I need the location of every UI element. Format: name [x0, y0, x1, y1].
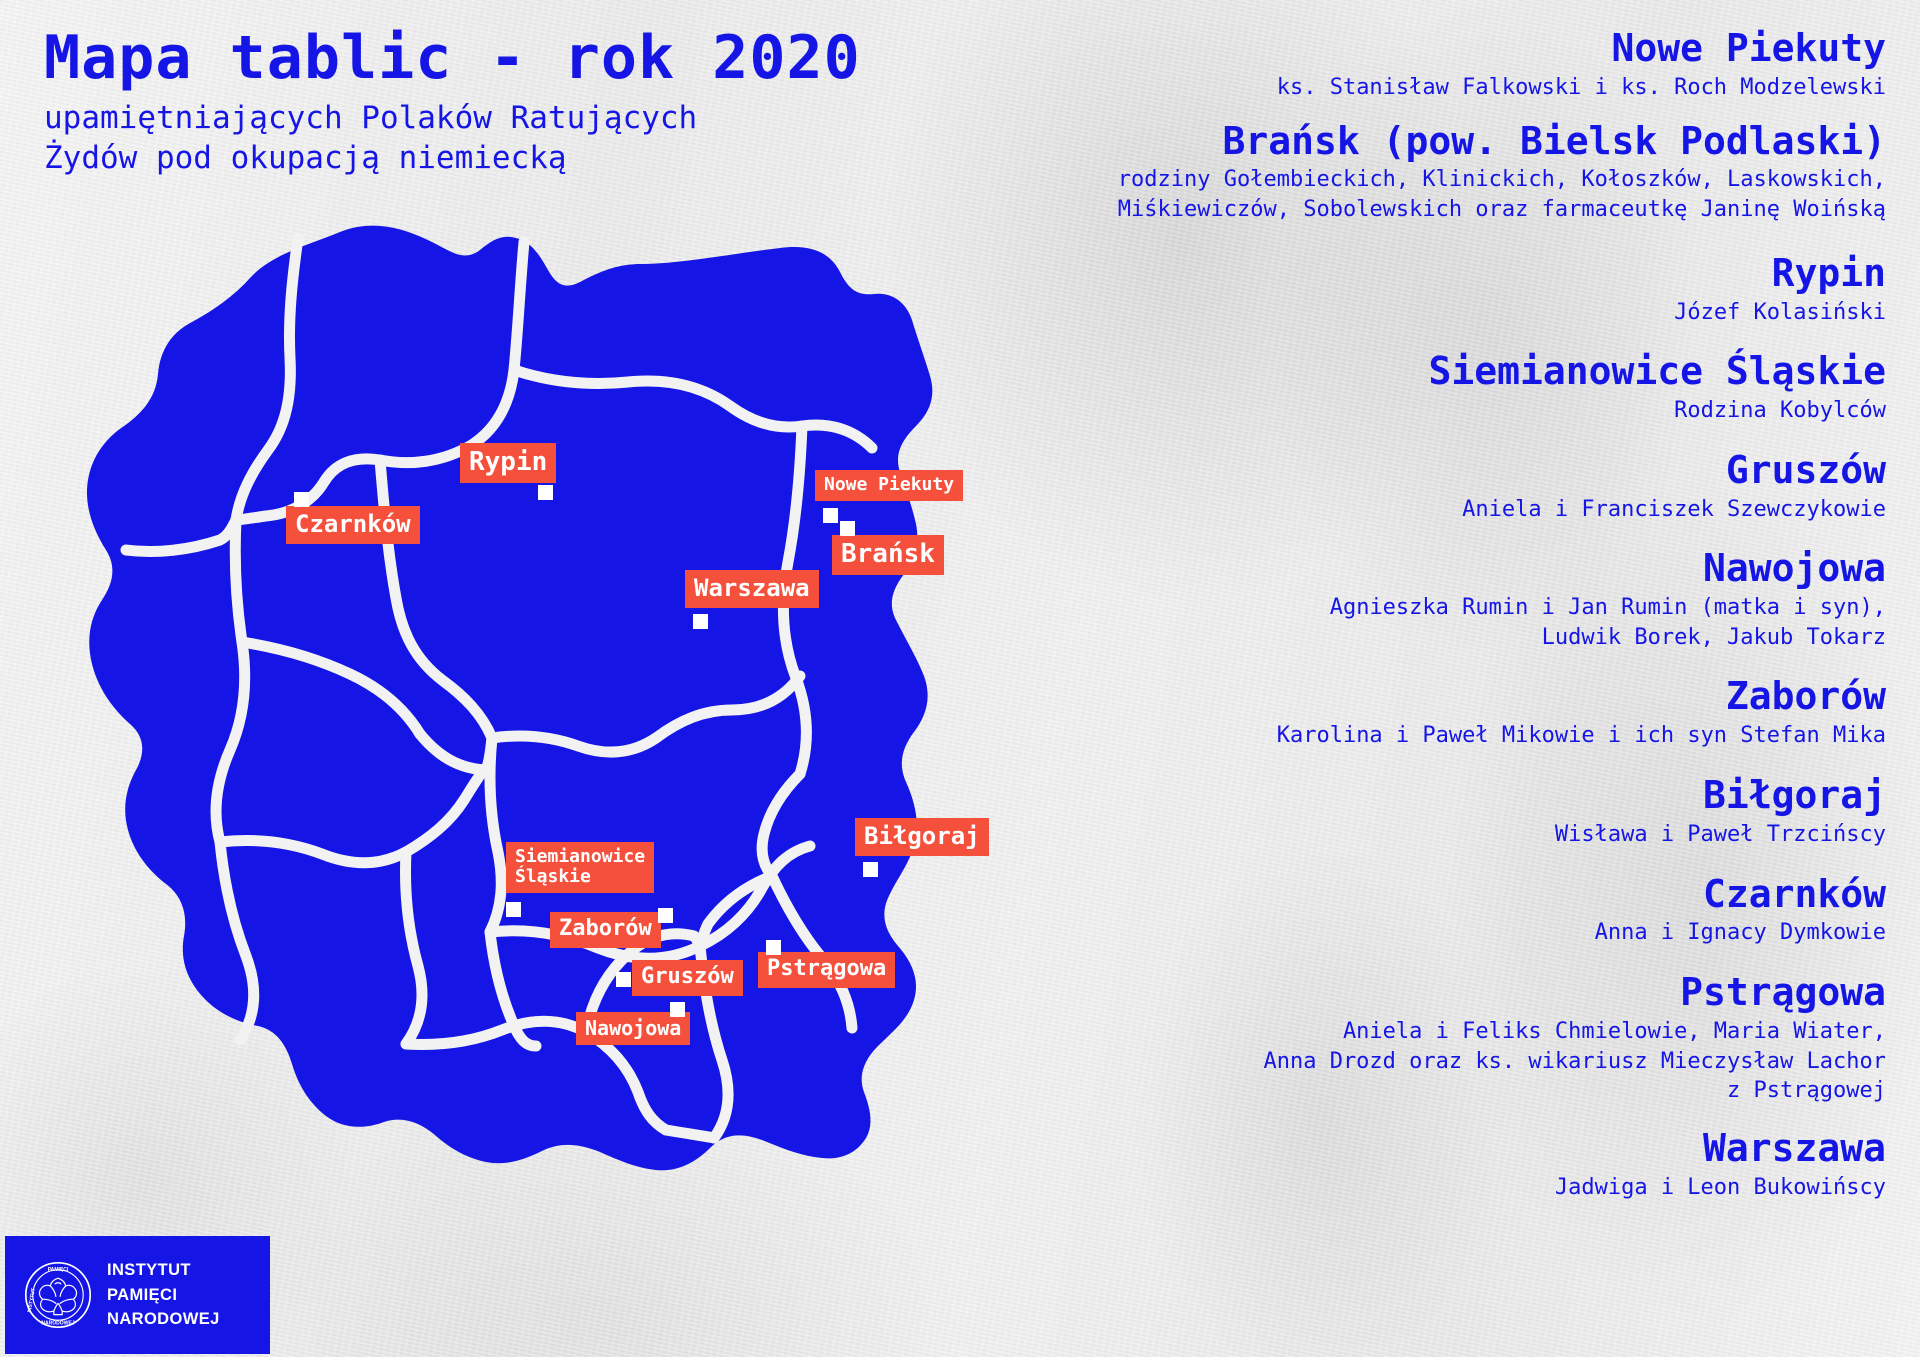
- entry-place: Warszawa: [1006, 1126, 1886, 1171]
- poland-map-svg: [40, 190, 1050, 1270]
- entry-place: Siemianowice Śląskie: [1006, 349, 1886, 394]
- list-item: Pstrągowa Aniela i Feliks Chmielowie, Ma…: [1006, 970, 1886, 1106]
- map-marker-nawojowa: [670, 1002, 685, 1017]
- entry-place: Czarnków: [1006, 872, 1886, 917]
- entry-place: Gruszów: [1006, 448, 1886, 493]
- map-label-czarnkow[interactable]: Czarnków: [286, 506, 420, 544]
- list-item: Biłgoraj Wisława i Paweł Trzcińscy: [1006, 773, 1886, 850]
- map-marker-gruszow: [616, 972, 631, 987]
- map-label-pstragowa[interactable]: Pstrągowa: [758, 952, 895, 988]
- map-label-rypin[interactable]: Rypin: [460, 443, 556, 483]
- map-marker-czarnkow: [294, 492, 309, 507]
- poland-map: Rypin Czarnków Nowe Piekuty Brańsk Warsz…: [40, 190, 1050, 1270]
- entry-place: Nowe Piekuty: [1006, 26, 1886, 71]
- map-label-gruszow[interactable]: Gruszów: [632, 960, 743, 996]
- list-item: Nawojowa Agnieszka Rumin i Jan Rumin (ma…: [1006, 546, 1886, 652]
- map-marker-rypin: [538, 485, 553, 500]
- svg-text:NARODOWEJ: NARODOWEJ: [41, 1320, 74, 1326]
- svg-text:INSTYTUT: INSTYTUT: [27, 1287, 37, 1313]
- map-label-siemianowice-slaskie[interactable]: Siemianowice Śląskie: [506, 842, 654, 893]
- list-item: Czarnków Anna i Ignacy Dymkowie: [1006, 872, 1886, 949]
- ipn-logo-text: INSTYTUT PAMIĘCI NARODOWEJ: [107, 1258, 220, 1332]
- map-marker-warszawa: [693, 614, 708, 629]
- list-item: Nowe Piekuty ks. Stanisław Falkowski i k…: [1006, 26, 1886, 103]
- entry-names: Wisława i Paweł Trzcińscy: [1006, 820, 1886, 850]
- list-item: Rypin Józef Kolasiński: [1006, 251, 1886, 328]
- entry-place: Nawojowa: [1006, 546, 1886, 591]
- entry-names: Jadwiga i Leon Bukowińscy: [1006, 1173, 1886, 1203]
- map-label-zaborow[interactable]: Zaborów: [550, 912, 661, 948]
- list-item: Warszawa Jadwiga i Leon Bukowińscy: [1006, 1126, 1886, 1203]
- entry-place: Pstrągowa: [1006, 970, 1886, 1015]
- list-item: Zaborów Karolina i Paweł Mikowie i ich s…: [1006, 674, 1886, 751]
- entry-names: Karolina i Paweł Mikowie i ich syn Stefa…: [1006, 721, 1886, 751]
- entry-place: Brańsk (pow. Bielsk Podlaski): [1006, 119, 1886, 164]
- entry-names: Anna i Ignacy Dymkowie: [1006, 918, 1886, 948]
- entry-place: Zaborów: [1006, 674, 1886, 719]
- commemoration-list: Nowe Piekuty ks. Stanisław Falkowski i k…: [1006, 26, 1886, 1218]
- list-item: Gruszów Aniela i Franciszek Szewczykowie: [1006, 448, 1886, 525]
- svg-text:PAMIĘCI: PAMIĘCI: [48, 1267, 69, 1273]
- map-marker-siemianowice-slaskie: [506, 902, 521, 917]
- map-marker-nowe-piekuty: [823, 508, 838, 523]
- map-label-nowe-piekuty[interactable]: Nowe Piekuty: [815, 470, 963, 501]
- entry-names: Agnieszka Rumin i Jan Rumin (matka i syn…: [1006, 593, 1886, 652]
- title-block: Mapa tablic - rok 2020 upamiętniających …: [44, 24, 884, 178]
- map-label-bransk[interactable]: Brańsk: [832, 535, 944, 575]
- page-subtitle: upamiętniających Polaków Ratujących Żydó…: [44, 99, 884, 178]
- entry-names: Józef Kolasiński: [1006, 298, 1886, 328]
- list-item: Siemianowice Śląskie Rodzina Kobylców: [1006, 349, 1886, 426]
- map-marker-zaborow: [658, 908, 673, 923]
- entry-names: rodziny Gołembieckich, Klinickich, Kołos…: [1006, 165, 1886, 224]
- map-label-bilgoraj[interactable]: Biłgoraj: [855, 818, 989, 856]
- map-label-warszawa[interactable]: Warszawa: [685, 570, 819, 608]
- map-marker-bransk: [840, 521, 855, 536]
- ipn-logo: PAMIĘCI NARODOWEJ INSTYTUT INSTYTUT PAMI…: [5, 1236, 270, 1354]
- ipn-eagle-seal-icon: PAMIĘCI NARODOWEJ INSTYTUT: [23, 1260, 93, 1330]
- entry-names: Aniela i Franciszek Szewczykowie: [1006, 495, 1886, 525]
- list-item: Brańsk (pow. Bielsk Podlaski) rodziny Go…: [1006, 119, 1886, 225]
- map-marker-bilgoraj: [863, 862, 878, 877]
- entry-names: Aniela i Feliks Chmielowie, Maria Wiater…: [1006, 1017, 1886, 1106]
- map-marker-pstragowa: [766, 940, 781, 955]
- page-title: Mapa tablic - rok 2020: [44, 24, 884, 93]
- entry-place: Biłgoraj: [1006, 773, 1886, 818]
- entry-names: ks. Stanisław Falkowski i ks. Roch Modze…: [1006, 73, 1886, 103]
- entry-names: Rodzina Kobylców: [1006, 396, 1886, 426]
- map-label-nawojowa[interactable]: Nawojowa: [576, 1012, 690, 1045]
- entry-place: Rypin: [1006, 251, 1886, 296]
